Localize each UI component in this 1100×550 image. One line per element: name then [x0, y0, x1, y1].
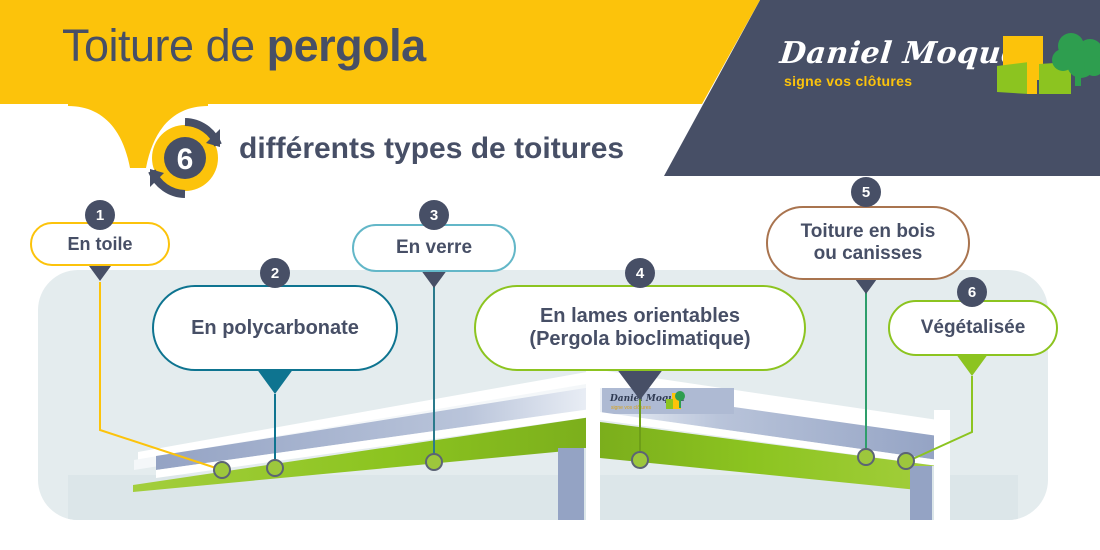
callout-number-1: 1: [85, 200, 115, 230]
callout-number-6: 6: [957, 277, 987, 307]
callout-number-2: 2: [260, 258, 290, 288]
callout-label-4: En lames orientables (Pergola bioclimati…: [515, 305, 764, 351]
callout-label-3: En verre: [382, 237, 486, 259]
connector-dot-5: [858, 449, 874, 465]
callout-box-5[interactable]: Toiture en bois ou canisses: [766, 206, 970, 280]
callout-box-4[interactable]: En lames orientables (Pergola bioclimati…: [474, 285, 806, 371]
callout-pointer-2: [256, 368, 294, 394]
callout-pointer-4: [616, 368, 664, 400]
subtitle-text: différents types de toitures: [239, 132, 624, 166]
callout-box-6[interactable]: Végétalisée: [888, 300, 1058, 356]
connector-dot-1: [214, 462, 230, 478]
connector-dot-3: [426, 454, 442, 470]
infographic-canvas: Daniel Moquet signe vos clôtures Toiture…: [0, 0, 1100, 550]
callout-number-3: 3: [419, 200, 449, 230]
connector-line-6: [906, 376, 972, 462]
connector-dot-4: [632, 452, 648, 468]
callout-label-6: Végétalisée: [907, 317, 1040, 339]
cycle-six-icon: 6: [140, 113, 230, 203]
callout-box-3[interactable]: En verre: [352, 224, 516, 272]
callout-number-5: 5: [851, 177, 881, 207]
connector-dot-6: [898, 453, 914, 469]
callout-label-5: Toiture en bois ou canisses: [787, 221, 950, 265]
callout-label-1: En toile: [53, 234, 146, 255]
callout-label-2: En polycarbonate: [177, 317, 373, 340]
callout-box-2[interactable]: En polycarbonate: [152, 285, 398, 371]
callout-number-4: 4: [625, 258, 655, 288]
connector-dot-2: [267, 460, 283, 476]
cycle-six-number: 6: [177, 143, 194, 176]
